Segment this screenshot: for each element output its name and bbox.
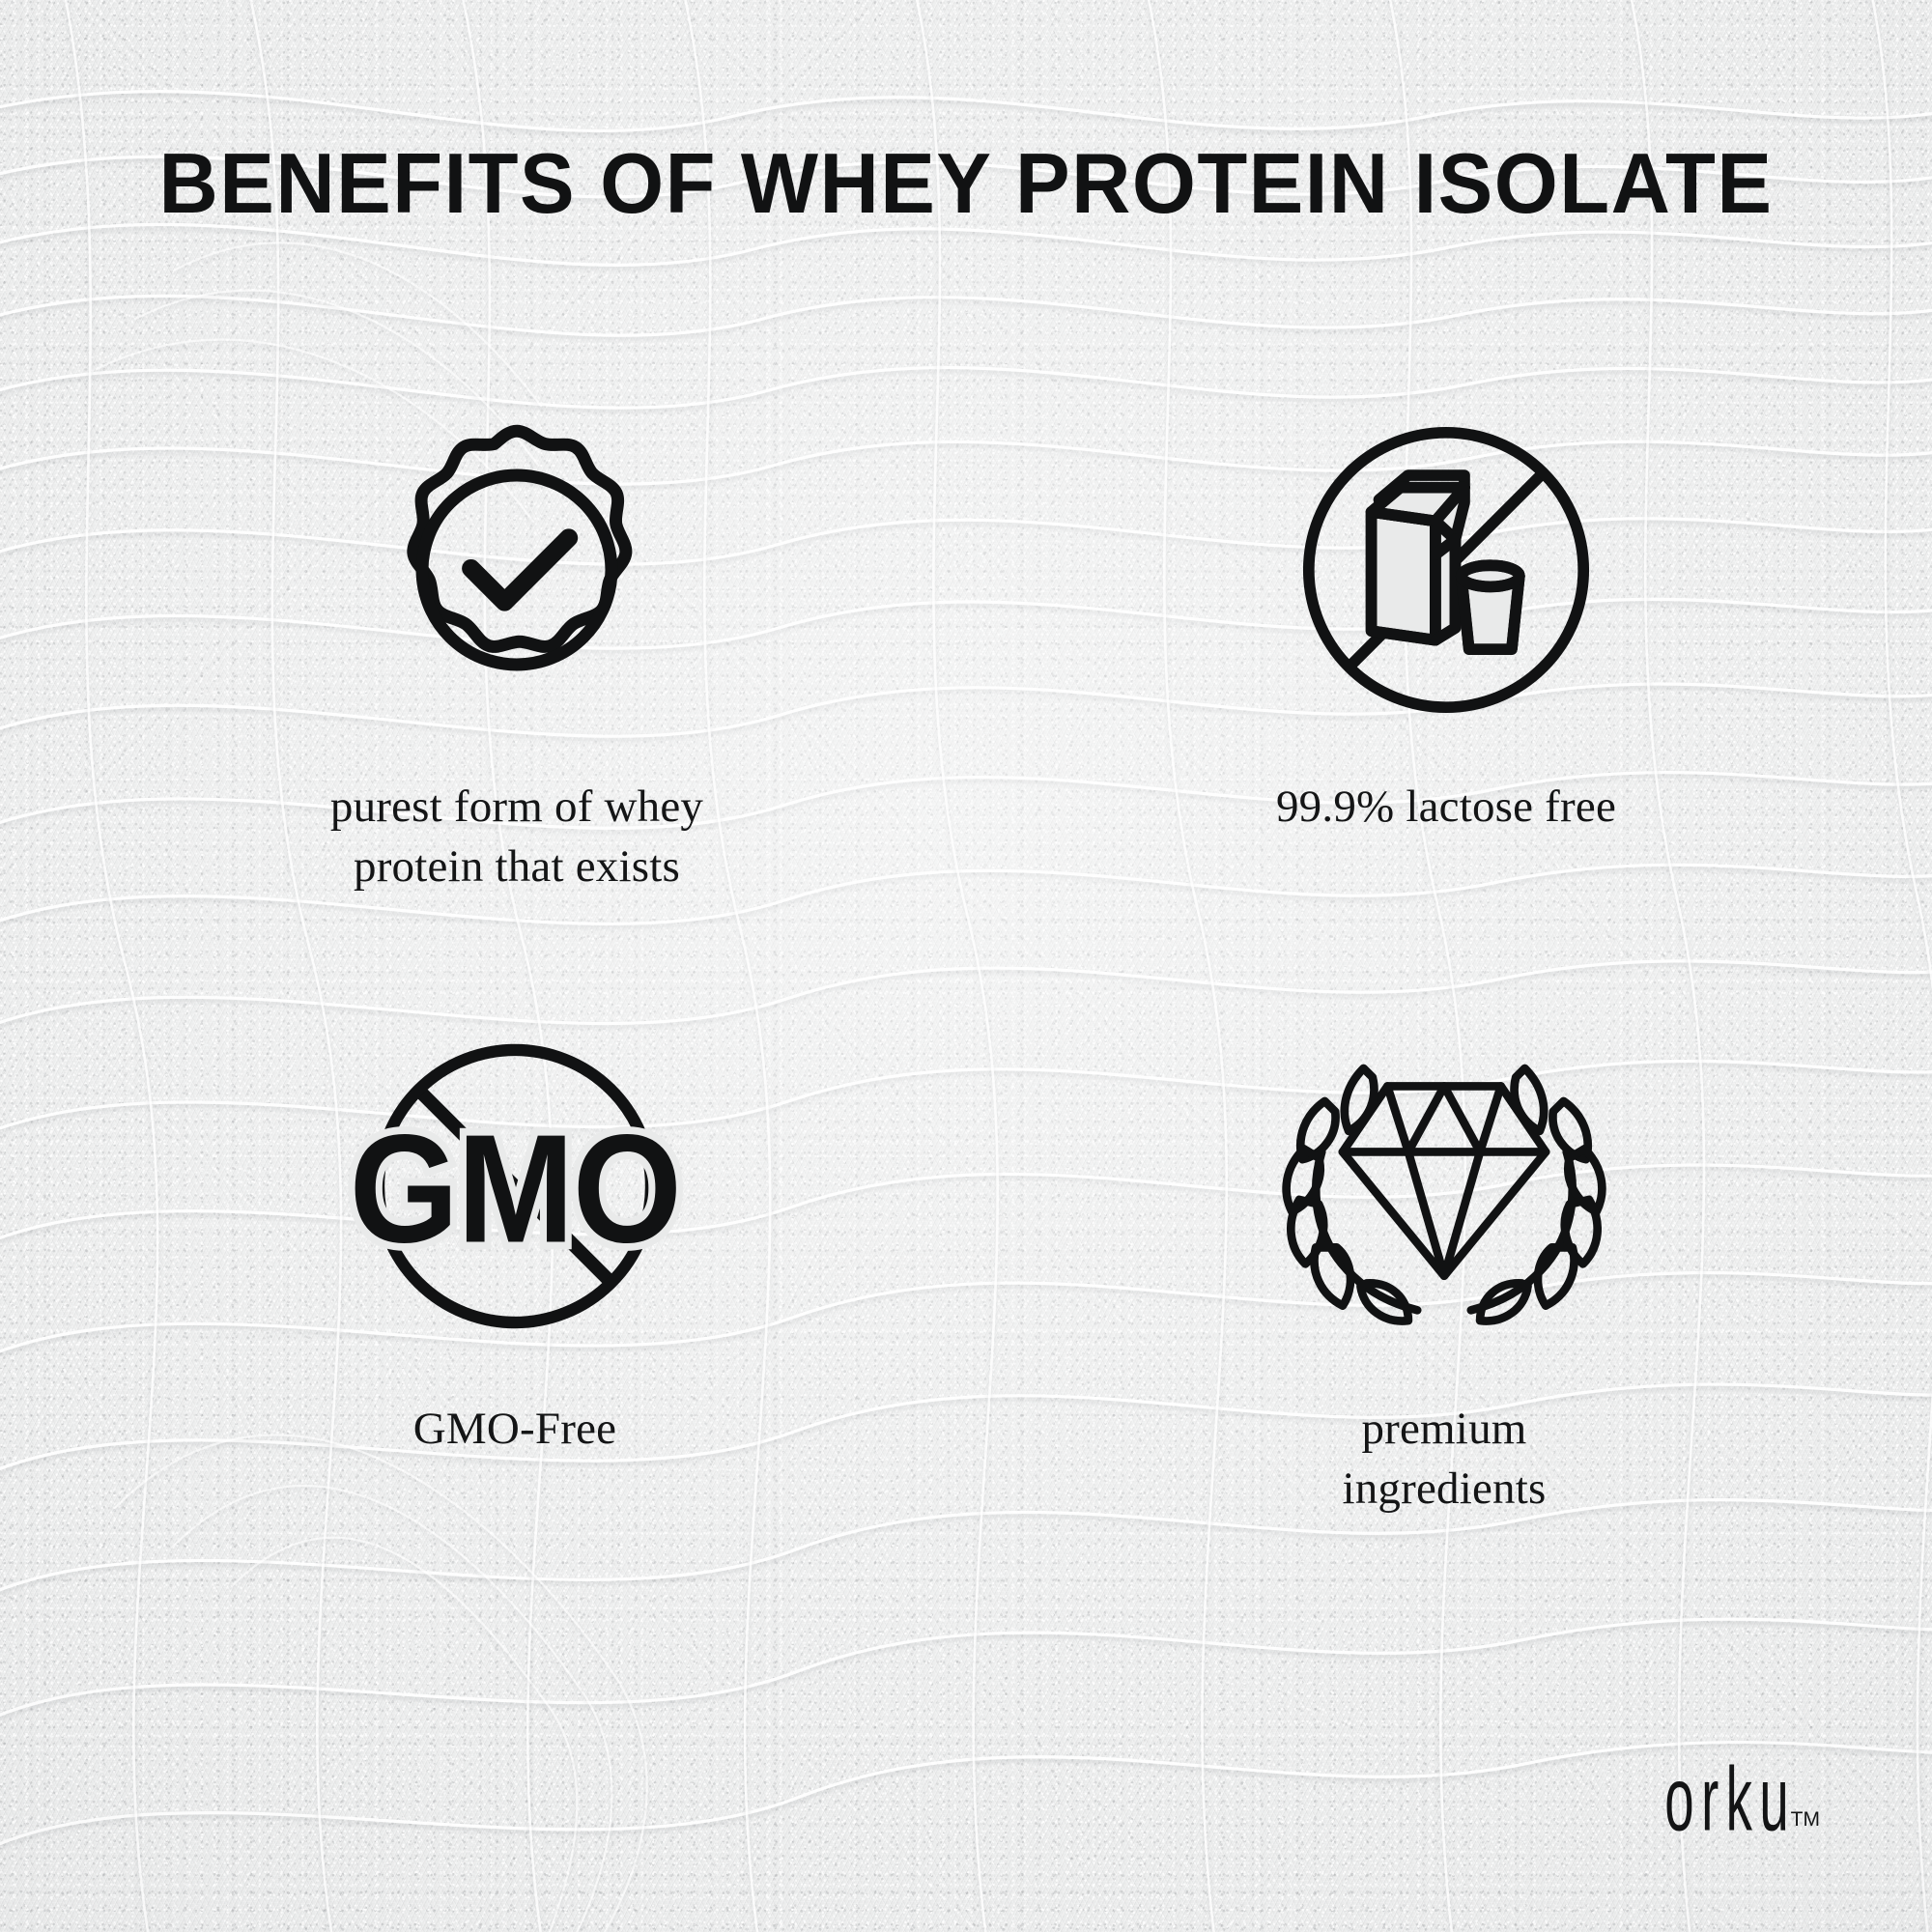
page-title: BENEFITS OF WHEY PROTEIN ISOLATE [34, 141, 1898, 226]
brand-wordmark: orku [1665, 1758, 1797, 1839]
gmo-icon-label: GMO [350, 1103, 681, 1275]
laurel-wreath-diamond-icon [1280, 1022, 1608, 1350]
benefit-caption: GMO-Free [413, 1399, 616, 1459]
benefit-item-lactose-free: 99.9% lactose free [1007, 406, 1886, 896]
benefit-caption: premium ingredients [1342, 1399, 1546, 1519]
benefits-grid: purest form of whey protein that exists [87, 406, 1845, 1519]
benefit-item-premium-ingredients: premium ingredients [1005, 1022, 1884, 1519]
benefit-item-gmo-free: GMO GMO-Free [75, 1022, 954, 1519]
benefit-caption: purest form of whey protein that exists [330, 777, 703, 896]
no-dairy-milk-carton-icon [1282, 406, 1610, 734]
no-gmo-icon: GMO [351, 1022, 679, 1350]
brand-logo: orku TM [1584, 1763, 1820, 1839]
verified-badge-check-icon [353, 406, 681, 734]
poster-canvas: BENEFITS OF WHEY PROTEIN ISOLATE purest … [0, 0, 1932, 1932]
benefit-caption: 99.9% lactose free [1276, 777, 1616, 837]
benefit-item-purest-whey: purest form of whey protein that exists [77, 406, 956, 896]
